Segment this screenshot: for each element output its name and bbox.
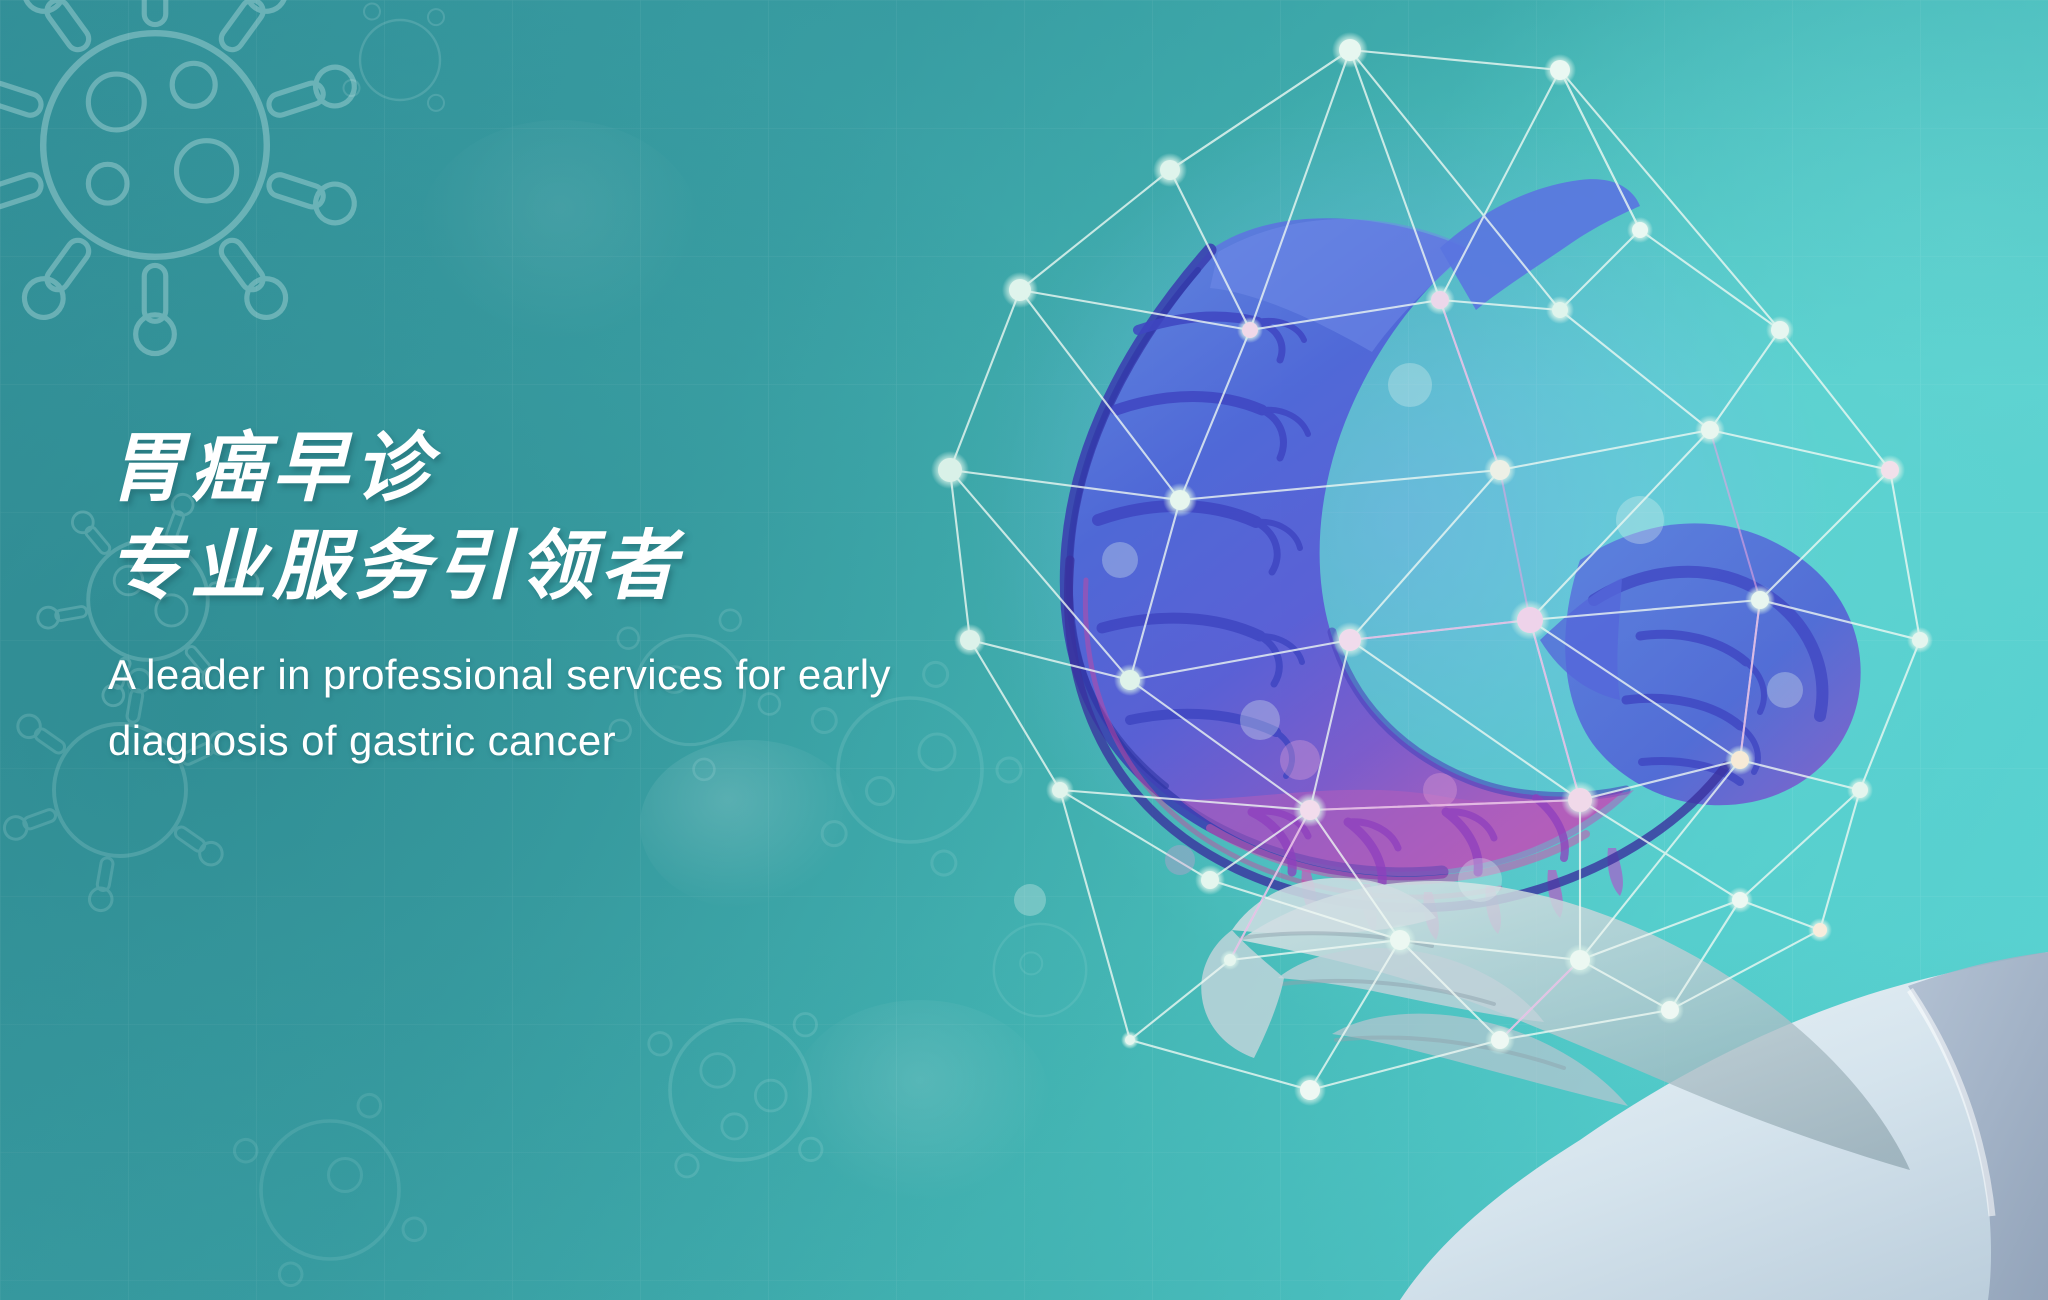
hero-text-block: 胃癌早诊 专业服务引领者 A leader in professional se… (108, 420, 1108, 774)
doctor-hand-holding-organ (1201, 878, 2048, 1300)
hero-banner: 胃癌早诊 专业服务引领者 A leader in professional se… (0, 0, 2048, 1300)
headline-line-2: 专业服务引领者 (108, 518, 1108, 616)
subtitle: A leader in professional services for ea… (108, 642, 1108, 774)
headline-line-1: 胃癌早诊 (108, 420, 1108, 518)
subtitle-line-2: diagnosis of gastric cancer (108, 708, 1108, 774)
subtitle-line-1: A leader in professional services for ea… (108, 642, 1108, 708)
